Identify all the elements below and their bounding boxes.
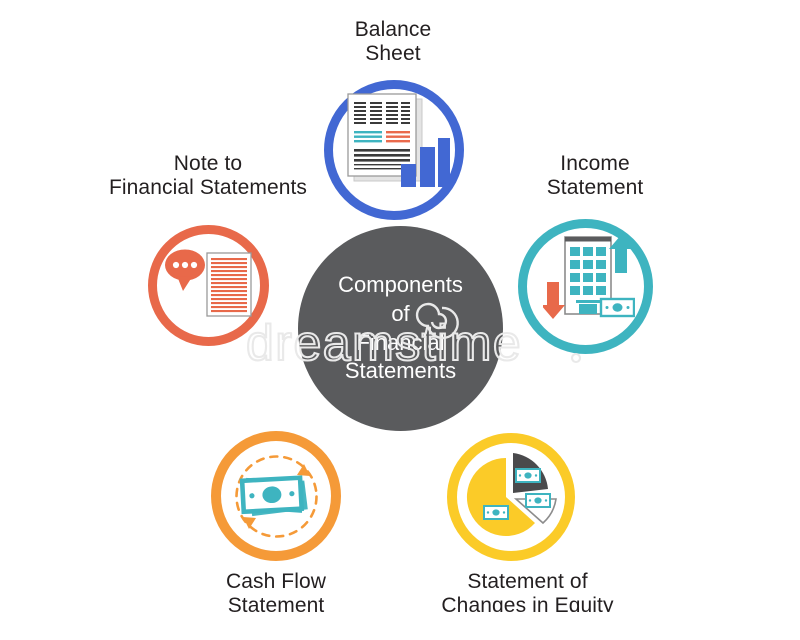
label-cash-flow-statement: Cash Flow Statement [196,570,356,617]
watermark-bottom-strip [0,612,800,640]
label-cash-flow-line-1: Cash Flow [226,570,326,593]
hub-label-line-4: Statements [338,357,463,386]
label-statement-of-changes-in-equity: Statement of Changes in Equity [420,570,635,617]
banknotes-cycle-icon [228,448,325,545]
label-income-line-1: Income [560,152,629,175]
building-arrows-money-icon [543,229,635,324]
hub-label-line-1: Components [338,271,463,300]
label-note-line-2: Financial Statements [92,176,324,200]
label-note-line-1: Note to [174,152,242,175]
hub-label-line-3: Financial [338,329,463,358]
diagram-canvas: Balance Sheet [0,0,800,640]
speech-bubble-document-icon [163,243,255,328]
label-balance-sheet-line-1: Balance [355,18,432,41]
hub-label-line-2: of [338,300,463,329]
label-note-to-financial-statements: Note to Financial Statements [92,152,324,199]
label-balance-sheet-line-2: Sheet [313,42,473,66]
label-balance-sheet: Balance Sheet [313,18,473,65]
label-income-line-2: Statement [505,176,685,200]
hub-label: Components of Financial Statements [338,271,463,385]
pie-chart-money-icon [462,448,562,546]
label-equity-line-2: Changes in Equity [420,594,635,618]
label-income-statement: Income Statement [505,152,685,199]
label-equity-line-1: Statement of [467,570,587,593]
hub-circle[interactable]: Components of Financial Statements [298,226,503,431]
document-with-bar-chart-icon [344,92,450,192]
label-cash-flow-line-2: Statement [196,594,356,618]
